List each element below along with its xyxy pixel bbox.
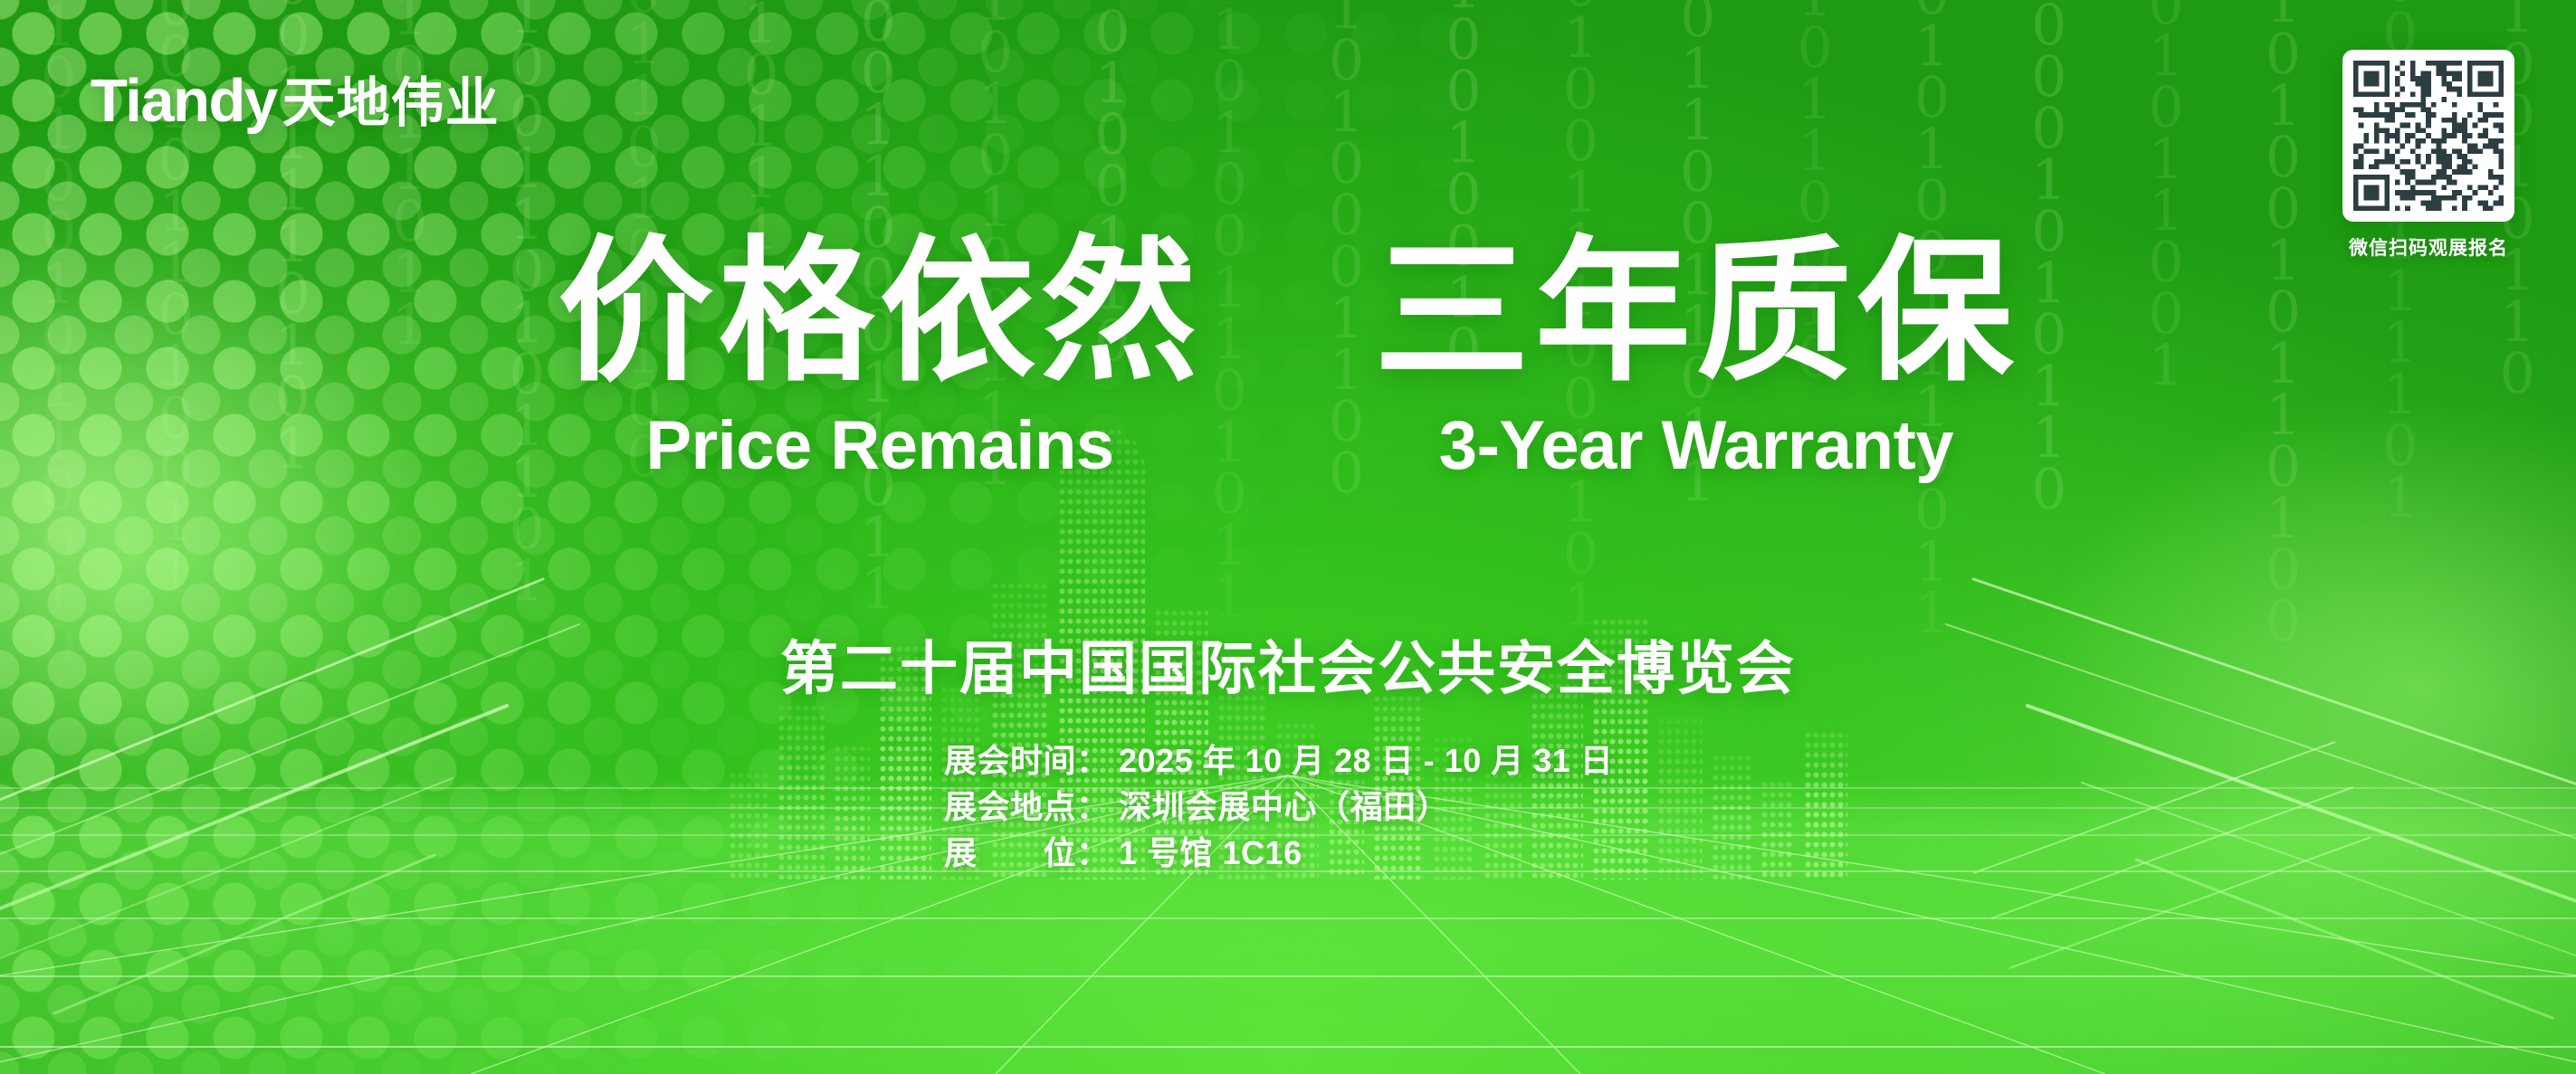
detail-row-venue: 展会地点： 深圳会展中心（福田）: [944, 784, 1613, 830]
brand-logo-chinese: 天地伟业: [282, 77, 500, 130]
headline-row: 价格依然 Price Remains 三年质保 3-Year Warranty: [0, 233, 2576, 480]
brand-logo: Tiandy 天地伟业: [91, 71, 500, 131]
banner-content: Tiandy 天地伟业 微信扫码观展报名 价格依然 Price Remains …: [0, 0, 2576, 1074]
qr-registration-block[interactable]: 微信扫码观展报名: [2342, 50, 2514, 261]
brand-logo-latin: Tiandy: [91, 71, 277, 131]
detail-row-booth: 展 位： 1 号馆 1C16: [944, 830, 1613, 876]
promotional-banner: 1 0 1 0 0 1 0 1 1 0 0 1 0 10 1 0 0 1 0 1…: [0, 0, 2576, 1074]
qr-code-icon[interactable]: [2342, 50, 2514, 222]
expo-details: 展会时间： 2025 年 10 月 28 日 - 10 月 31 日 展会地点：…: [944, 737, 1613, 876]
detail-row-date: 展会时间： 2025 年 10 月 28 日 - 10 月 31 日: [944, 737, 1613, 784]
headline-cn-price: 价格依然: [558, 233, 1202, 392]
headline-cn-warranty: 三年质保: [1374, 233, 2018, 392]
expo-title: 第二十届中国国际社会公共安全博览会: [0, 623, 2576, 706]
headline-group-warranty: 三年质保 3-Year Warranty: [1374, 233, 2018, 480]
headline-en-price: Price Remains: [558, 412, 1202, 480]
headline-en-warranty: 3-Year Warranty: [1374, 412, 2018, 480]
headline-group-price: 价格依然 Price Remains: [558, 233, 1202, 480]
